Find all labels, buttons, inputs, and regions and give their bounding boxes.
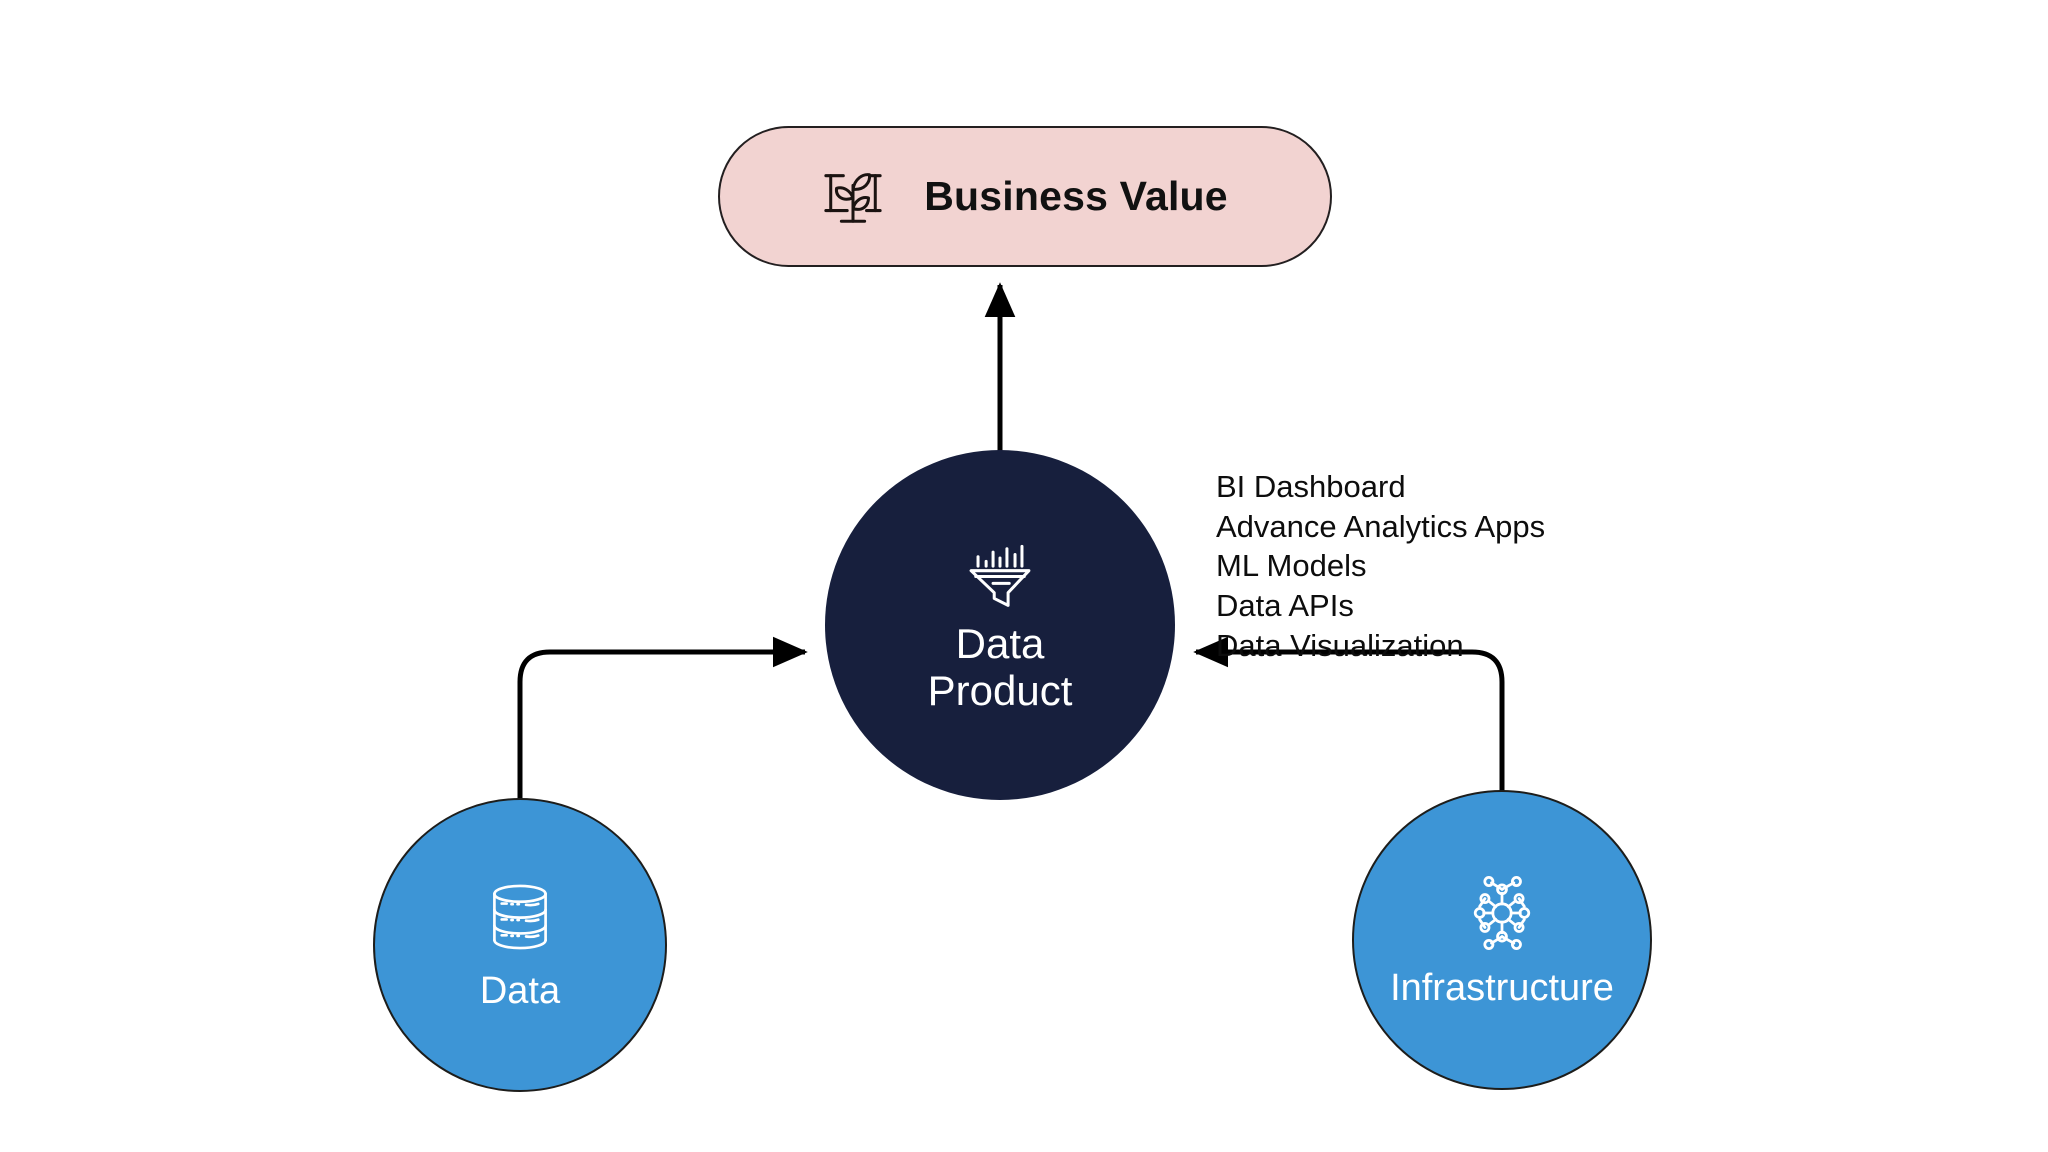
connector-infrastructure-to-data-product <box>1196 652 1502 795</box>
data-label: Data <box>480 970 560 1013</box>
plant-growth-icon <box>822 166 884 228</box>
output-item: ML Models <box>1216 546 1545 586</box>
data-node[interactable]: Data <box>373 798 667 1092</box>
connector-data-to-data-product <box>520 652 805 800</box>
data-product-outputs-list: BI Dashboard Advance Analytics Apps ML M… <box>1216 467 1545 665</box>
network-nodes-icon <box>1460 871 1544 955</box>
database-cylinder-icon <box>481 878 559 956</box>
funnel-filter-icon <box>963 536 1037 610</box>
diagram-canvas: Business Value Data Product <box>0 0 2048 1152</box>
infrastructure-label: Infrastructure <box>1390 967 1614 1010</box>
infrastructure-node[interactable]: Infrastructure <box>1352 790 1652 1090</box>
business-value-label: Business Value <box>924 173 1228 220</box>
business-value-node[interactable]: Business Value <box>718 126 1332 267</box>
output-item: BI Dashboard <box>1216 467 1545 507</box>
output-item: Data APIs <box>1216 586 1545 626</box>
output-item: Data Visualization <box>1216 626 1545 666</box>
output-item: Advance Analytics Apps <box>1216 507 1545 547</box>
data-product-node[interactable]: Data Product <box>825 450 1175 800</box>
data-product-label: Data Product <box>928 620 1073 714</box>
